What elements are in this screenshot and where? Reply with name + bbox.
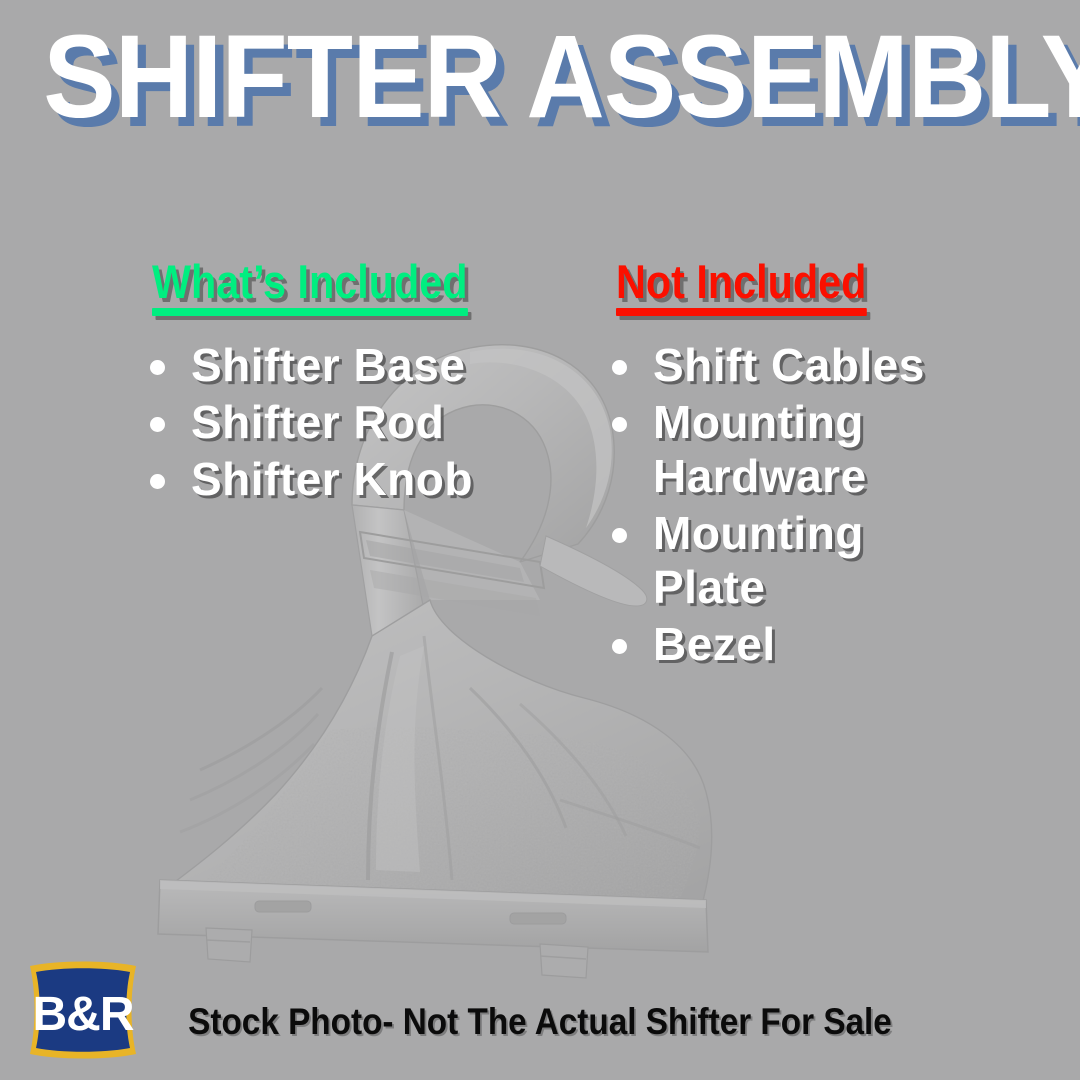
column-header-included-label: What’s Included xyxy=(152,255,468,308)
list-item: Shifter Rod xyxy=(150,395,570,449)
list-item-label: Mounting Hardware xyxy=(653,395,953,503)
list-item-label: Shifter Rod xyxy=(191,395,444,449)
bullet-icon xyxy=(150,360,165,375)
list-item-label: Bezel xyxy=(653,617,776,671)
bullet-icon xyxy=(150,417,165,432)
bullet-icon xyxy=(612,639,627,654)
page-title: SHIFTER ASSEMBLY xyxy=(43,18,1037,136)
list-item-label: Shift Cables xyxy=(653,338,925,392)
bullet-icon xyxy=(612,360,627,375)
column-header-not-included: Not Included xyxy=(616,258,866,316)
list-item-label: Mounting Plate xyxy=(653,506,953,614)
bullet-icon xyxy=(612,528,627,543)
list-item: Mounting Plate xyxy=(612,506,1012,614)
column-header-not-included-label: Not Included xyxy=(616,255,866,308)
list-item: Bezel xyxy=(612,617,1012,671)
list-item-label: Shifter Knob xyxy=(191,452,473,506)
list-item: Shifter Base xyxy=(150,338,570,392)
column-header-included: What’s Included xyxy=(152,258,468,316)
brand-logo-b-and-r: B&R xyxy=(26,960,140,1060)
not-included-items-list: Shift Cables Mounting Hardware Mounting … xyxy=(612,338,1012,674)
header-underline-included xyxy=(152,308,468,316)
list-item: Mounting Hardware xyxy=(612,395,1012,503)
bullet-icon xyxy=(612,417,627,432)
bullet-icon xyxy=(150,474,165,489)
logo-wordmark: B&R xyxy=(33,988,134,1041)
header-underline-not-included xyxy=(616,308,866,316)
stock-photo-disclaimer: Stock Photo- Not The Actual Shifter For … xyxy=(54,1003,1026,1040)
list-item: Shift Cables xyxy=(612,338,1012,392)
included-items-list: Shifter Base Shifter Rod Shifter Knob xyxy=(150,338,570,509)
list-item: Shifter Knob xyxy=(150,452,570,506)
list-item-label: Shifter Base xyxy=(191,338,465,392)
product-listing-graphic: SHIFTER ASSEMBLY What’s Included Not Inc… xyxy=(0,0,1080,1080)
